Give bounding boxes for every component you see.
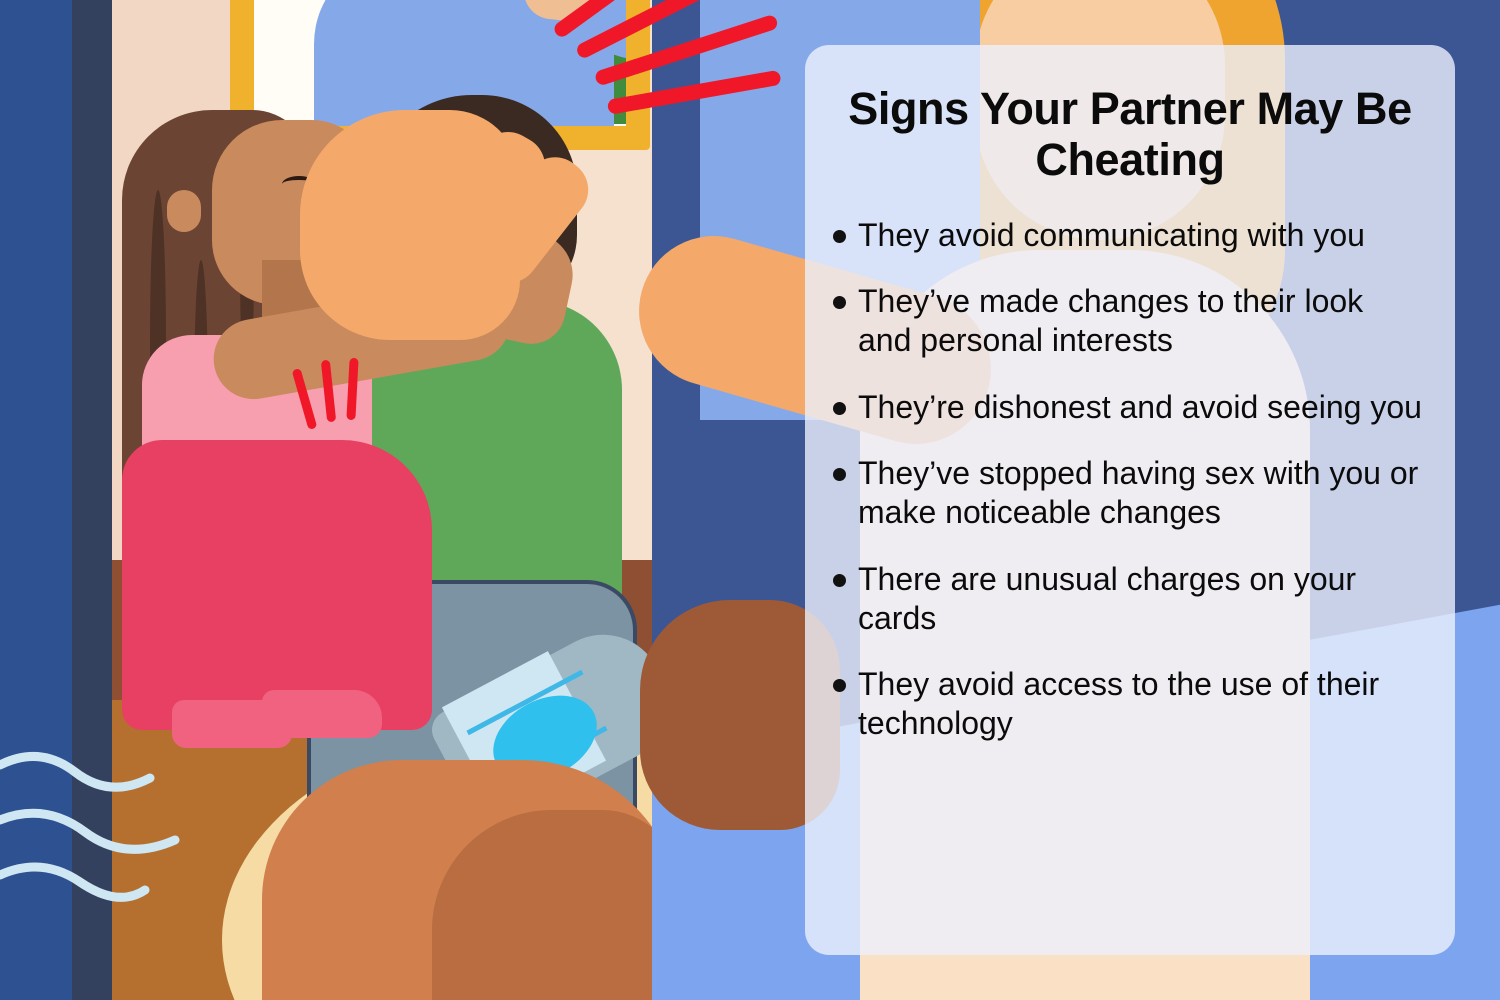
list-item-label: They avoid access to the use of their te… <box>858 665 1425 742</box>
list-item: They’ve made changes to their look and p… <box>827 282 1425 359</box>
infographic-canvas: ɯ ɯ ɯ ɯ <box>0 0 1500 1000</box>
list-item-label: They’ve stopped having sex with you or m… <box>858 454 1425 531</box>
list-item: They avoid communicating with you <box>827 216 1425 255</box>
page-title: Signs Your Partner May Be Cheating <box>833 83 1427 186</box>
bullet-dot-icon <box>833 679 846 692</box>
bullet-dot-icon <box>833 402 846 415</box>
signs-list: They avoid communicating with you They’v… <box>827 216 1425 743</box>
list-item-label: They avoid communicating with you <box>858 216 1365 255</box>
list-item-label: They’ve made changes to their look and p… <box>858 282 1425 359</box>
decorative-wavy-lines <box>0 740 250 920</box>
woman-shoe-right <box>262 690 382 738</box>
bullet-dot-icon <box>833 468 846 481</box>
text-card-panel: Signs Your Partner May Be Cheating They … <box>805 45 1455 955</box>
list-item: They avoid access to the use of their te… <box>827 665 1425 742</box>
list-item-label: There are unusual charges on your cards <box>858 560 1425 637</box>
list-item: There are unusual charges on your cards <box>827 560 1425 637</box>
list-item: They’ve stopped having sex with you or m… <box>827 454 1425 531</box>
bullet-dot-icon <box>833 574 846 587</box>
bullet-dot-icon <box>833 230 846 243</box>
list-item: They’re dishonest and avoid seeing you <box>827 388 1425 427</box>
list-item-label: They’re dishonest and avoid seeing you <box>858 388 1422 427</box>
woman-pink-pants <box>122 440 432 730</box>
bullet-dot-icon <box>833 296 846 309</box>
woman-ear <box>167 190 201 232</box>
